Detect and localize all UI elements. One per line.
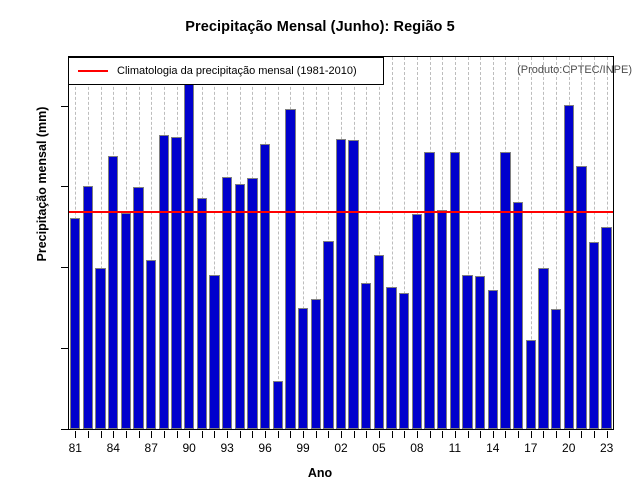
y-tick-mark [61, 267, 68, 268]
x-tick-mark [556, 431, 557, 438]
x-tick-mark [569, 431, 570, 438]
x-tick-mark [455, 431, 456, 438]
bar-2017 [526, 340, 536, 429]
bar-1985 [121, 213, 131, 429]
x-tick-mark [75, 431, 76, 438]
bar-2014 [488, 290, 498, 429]
bar-1982 [83, 186, 93, 429]
x-tick-mark [328, 431, 329, 438]
legend-label: Climatologia da precipitação mensal (198… [117, 65, 357, 77]
x-tick-label: 20 [549, 441, 589, 455]
bar-1995 [247, 178, 257, 429]
x-tick-mark [88, 431, 89, 438]
x-tick-mark [164, 431, 165, 438]
x-tick-mark [139, 431, 140, 438]
x-tick-mark [543, 431, 544, 438]
bar-1986 [133, 187, 143, 429]
x-tick-mark [303, 431, 304, 438]
bar-1993 [222, 177, 232, 429]
bar-1997 [273, 381, 283, 429]
x-tick-label: 23 [587, 441, 627, 455]
bar-1998 [285, 109, 295, 429]
bar-2003 [348, 140, 358, 429]
x-tick-mark [417, 431, 418, 438]
x-tick-mark [354, 431, 355, 438]
plot-inner [69, 57, 613, 429]
bar-2011 [450, 152, 460, 429]
bar-2016 [513, 202, 523, 429]
bar-1994 [235, 184, 245, 429]
x-tick-label: 87 [131, 441, 171, 455]
x-tick-mark [265, 431, 266, 438]
y-tick-mark [61, 186, 68, 187]
x-tick-mark [316, 431, 317, 438]
bar-2004 [361, 283, 371, 429]
x-tick-mark [341, 431, 342, 438]
x-tick-label: 05 [359, 441, 399, 455]
y-tick-mark [61, 106, 68, 107]
bar-2005 [374, 255, 384, 429]
bar-2021 [576, 166, 586, 429]
bar-2002 [336, 139, 346, 429]
bar-1999 [298, 308, 308, 429]
x-tick-mark [227, 431, 228, 438]
x-tick-mark [468, 431, 469, 438]
bar-2008 [412, 214, 422, 429]
bar-2019 [551, 309, 561, 429]
x-tick-label: 84 [93, 441, 133, 455]
bar-2020 [564, 105, 574, 429]
bar-2022 [589, 242, 599, 429]
x-tick-mark [607, 431, 608, 438]
x-tick-mark [404, 431, 405, 438]
x-tick-mark [366, 431, 367, 438]
bar-1990 [184, 72, 194, 429]
bar-2012 [462, 275, 472, 429]
x-tick-mark [531, 431, 532, 438]
x-tick-mark [202, 431, 203, 438]
bar-1991 [197, 198, 207, 429]
chart-title: Precipitação Mensal (Junho): Região 5 [0, 19, 640, 35]
bar-2010 [437, 210, 447, 429]
x-tick-mark [392, 431, 393, 438]
x-tick-label: 93 [207, 441, 247, 455]
x-tick-mark [505, 431, 506, 438]
x-axis-title: Ano [0, 466, 640, 480]
bar-2018 [538, 268, 548, 429]
x-tick-mark [430, 431, 431, 438]
x-tick-mark [151, 431, 152, 438]
bar-2009 [424, 152, 434, 429]
legend-line-swatch [78, 70, 108, 72]
gridline-vertical [278, 57, 279, 429]
x-tick-label: 08 [397, 441, 437, 455]
bar-2023 [601, 227, 611, 429]
bar-1989 [171, 137, 181, 429]
x-tick-mark [594, 431, 595, 438]
bar-1984 [108, 156, 118, 429]
bar-2000 [311, 299, 321, 429]
x-tick-mark [518, 431, 519, 438]
bar-2006 [386, 287, 396, 429]
x-tick-mark [177, 431, 178, 438]
x-tick-label: 17 [511, 441, 551, 455]
x-tick-label: 99 [283, 441, 323, 455]
x-tick-label: 81 [55, 441, 95, 455]
bar-2015 [500, 152, 510, 429]
bar-1988 [159, 135, 169, 429]
x-tick-label: 02 [321, 441, 361, 455]
chart-root: Precipitação Mensal (Junho): Região 5 Cl… [0, 0, 640, 500]
x-tick-mark [493, 431, 494, 438]
x-tick-mark [278, 431, 279, 438]
bar-1992 [209, 275, 219, 429]
x-tick-mark [290, 431, 291, 438]
x-tick-mark [113, 431, 114, 438]
climatology-reference-line [69, 211, 613, 213]
x-tick-label: 11 [435, 441, 475, 455]
bar-1987 [146, 260, 156, 429]
bar-1983 [95, 268, 105, 429]
y-tick-mark [61, 429, 68, 430]
x-tick-mark [581, 431, 582, 438]
legend: Climatologia da precipitação mensal (198… [68, 57, 384, 85]
bar-1981 [70, 218, 80, 429]
x-tick-mark [480, 431, 481, 438]
bar-2013 [475, 276, 485, 429]
x-tick-mark [240, 431, 241, 438]
x-tick-label: 96 [245, 441, 285, 455]
bar-2001 [323, 241, 333, 429]
plot-area [68, 56, 614, 430]
x-tick-mark [214, 431, 215, 438]
x-tick-mark [252, 431, 253, 438]
x-tick-mark [189, 431, 190, 438]
x-tick-mark [126, 431, 127, 438]
product-annotation: (Produto:CPTEC/INPE) [517, 64, 632, 76]
y-axis-title: Precipitação mensal (mm) [35, 34, 49, 334]
x-tick-label: 90 [169, 441, 209, 455]
x-tick-mark [101, 431, 102, 438]
x-tick-mark [442, 431, 443, 438]
x-tick-mark [379, 431, 380, 438]
y-tick-mark [61, 348, 68, 349]
bar-1996 [260, 144, 270, 429]
bar-2007 [399, 293, 409, 429]
x-tick-label: 14 [473, 441, 513, 455]
